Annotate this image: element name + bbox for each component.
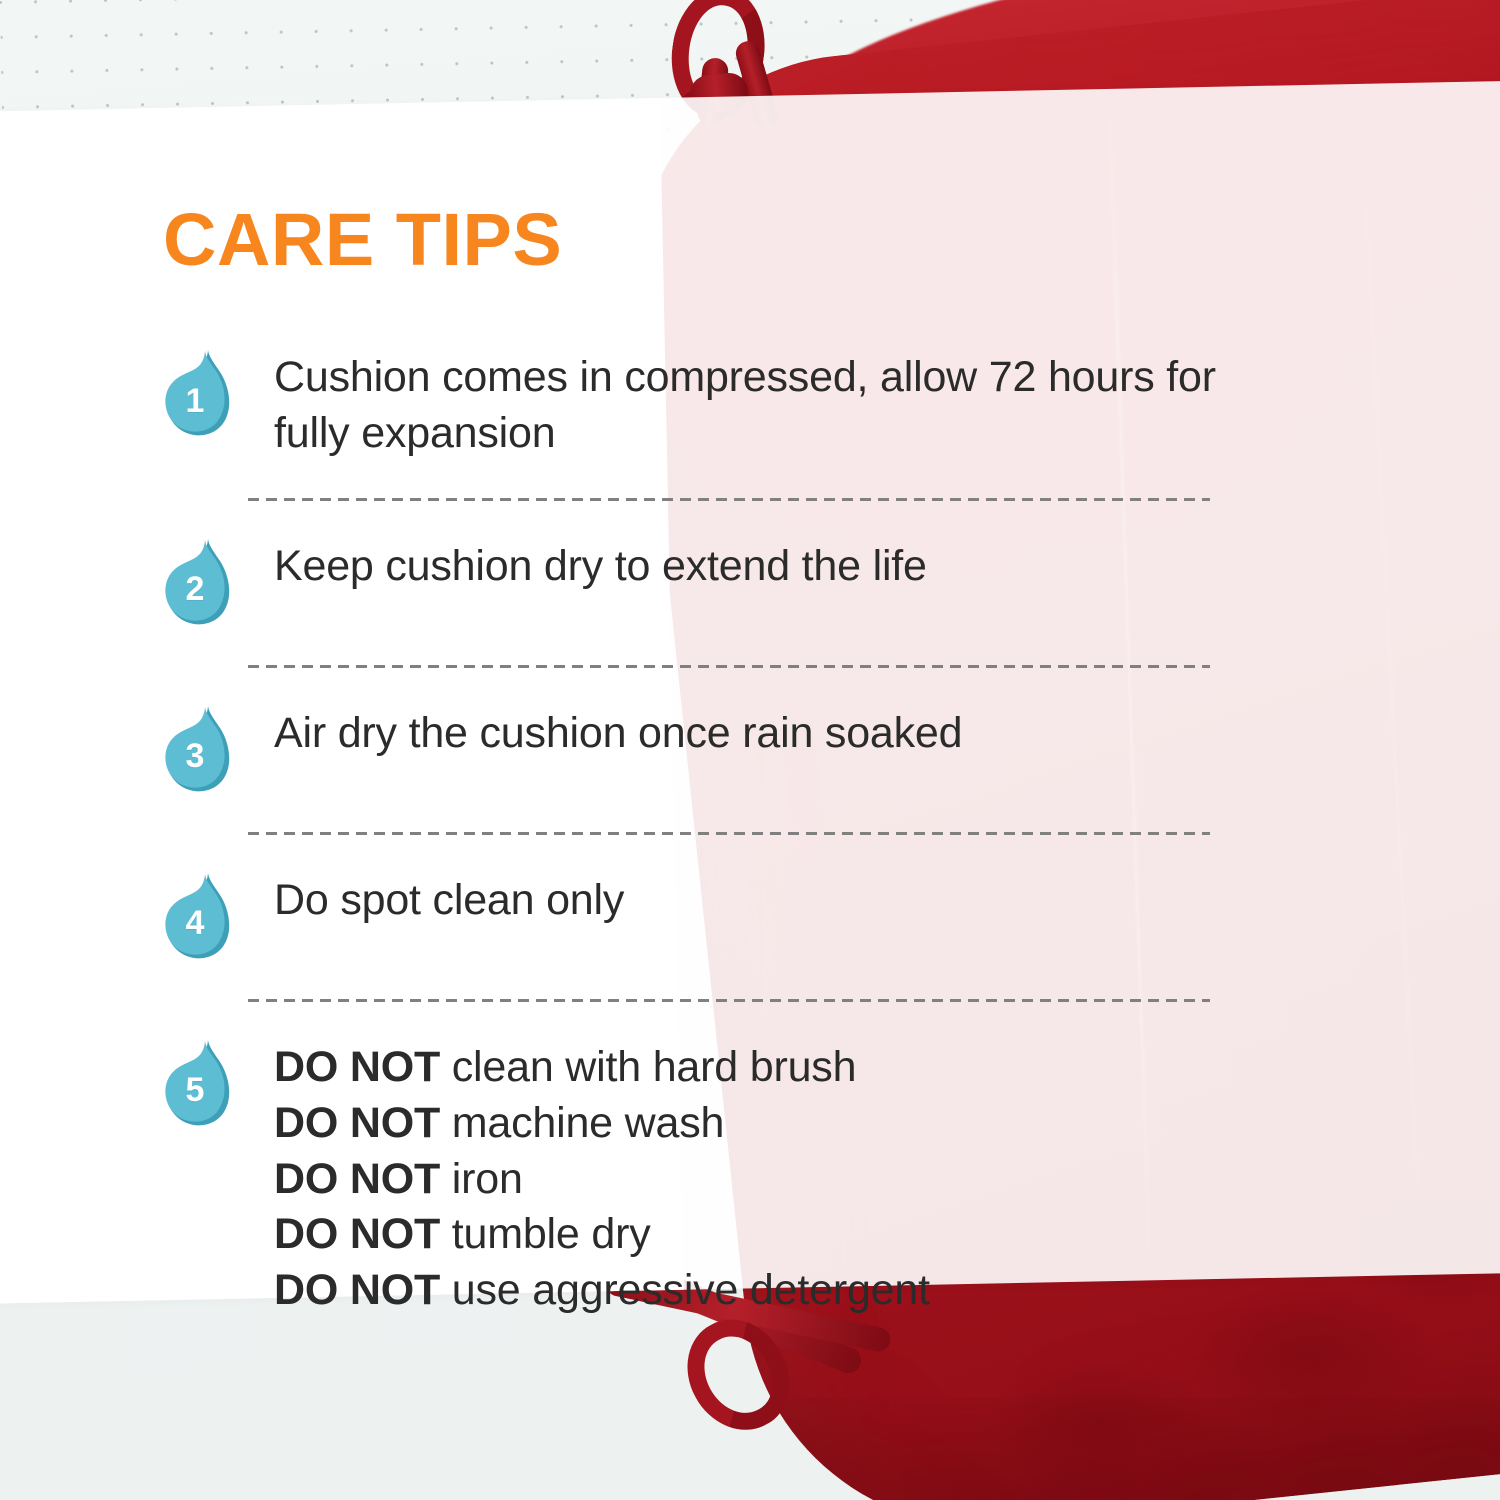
list-item: 5 DO NOT clean with hard brush DO NOT ma… bbox=[0, 1038, 1500, 1319]
drop-badge-number: 4 bbox=[162, 871, 228, 963]
list-item: 2 Keep cushion dry to extend the life bbox=[0, 537, 1500, 629]
drop-badge-number: 1 bbox=[162, 348, 228, 440]
donot-label: DO NOT bbox=[274, 1043, 440, 1091]
care-tips-list: 1 Cushion comes in compressed, allow 72 … bbox=[0, 348, 1500, 1319]
drop-badge-number: 5 bbox=[162, 1038, 228, 1130]
donot-label: DO NOT bbox=[274, 1155, 440, 1203]
drop-badge-number: 3 bbox=[162, 704, 228, 796]
drop-badge-icon: 3 bbox=[162, 704, 234, 796]
divider bbox=[248, 832, 1210, 835]
divider bbox=[248, 999, 1210, 1002]
list-item: 4 Do spot clean only bbox=[0, 871, 1500, 963]
donot-detail: tumble dry bbox=[440, 1210, 651, 1258]
tip-text: Keep cushion dry to extend the life bbox=[274, 537, 927, 595]
donot-detail: iron bbox=[440, 1155, 523, 1203]
donot-line: DO NOT machine wash bbox=[274, 1096, 930, 1152]
content-area: CARE TIPS 1 Cushion comes in compressed,… bbox=[0, 0, 1500, 1500]
tip-text: Do spot clean only bbox=[274, 871, 624, 929]
care-tips-infographic: CARE TIPS 1 Cushion comes in compressed,… bbox=[0, 0, 1500, 1500]
divider bbox=[248, 665, 1210, 668]
drop-badge-number: 2 bbox=[162, 537, 228, 629]
donot-label: DO NOT bbox=[274, 1099, 440, 1147]
tip-text-donot-list: DO NOT clean with hard brush DO NOT mach… bbox=[274, 1038, 930, 1319]
donot-detail: use aggressive detergent bbox=[440, 1266, 930, 1314]
drop-badge-icon: 1 bbox=[162, 348, 234, 440]
divider bbox=[248, 498, 1210, 501]
donot-label: DO NOT bbox=[274, 1266, 440, 1314]
donot-detail: machine wash bbox=[440, 1099, 724, 1147]
drop-badge-icon: 2 bbox=[162, 537, 234, 629]
list-item: 3 Air dry the cushion once rain soaked bbox=[0, 704, 1500, 796]
tip-text: Cushion comes in compressed, allow 72 ho… bbox=[274, 348, 1284, 462]
tip-text: Air dry the cushion once rain soaked bbox=[274, 704, 962, 762]
drop-badge-icon: 5 bbox=[162, 1038, 234, 1130]
list-item: 1 Cushion comes in compressed, allow 72 … bbox=[0, 348, 1500, 462]
page-title: CARE TIPS bbox=[163, 203, 562, 277]
donot-line: DO NOT clean with hard brush bbox=[274, 1040, 930, 1096]
donot-label: DO NOT bbox=[274, 1210, 440, 1258]
drop-badge-icon: 4 bbox=[162, 871, 234, 963]
donot-line: DO NOT iron bbox=[274, 1152, 930, 1208]
donot-line: DO NOT tumble dry bbox=[274, 1207, 930, 1263]
donot-detail: clean with hard brush bbox=[440, 1043, 856, 1091]
donot-line: DO NOT use aggressive detergent bbox=[274, 1263, 930, 1319]
